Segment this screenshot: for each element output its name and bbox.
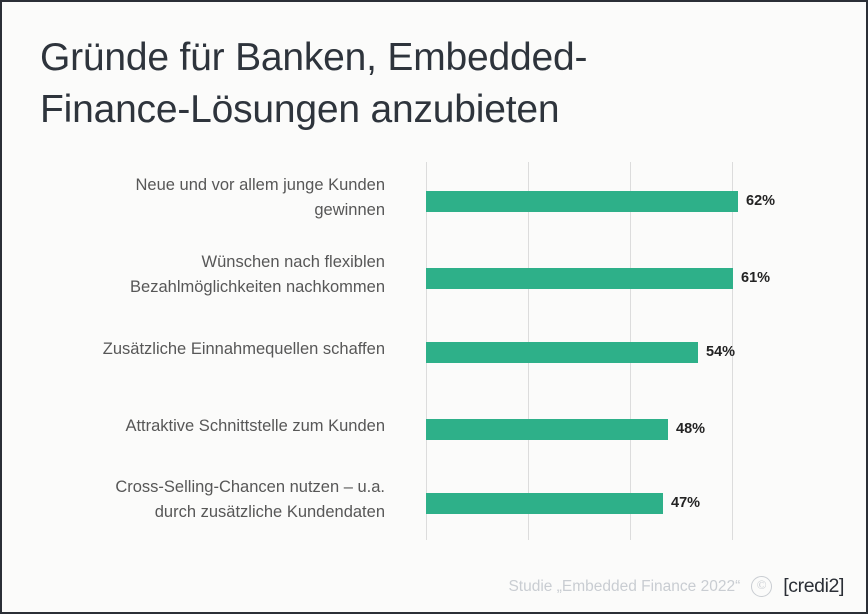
page-title: Gründe für Banken, Embedded- Finance-Lös…	[40, 32, 740, 136]
bar-row: Zusätzliche Einnahmequellen schaffen 54%	[2, 316, 868, 388]
bar[interactable]	[426, 419, 668, 440]
bar-row: Neue und vor allem junge Kunden gewinnen…	[2, 165, 868, 237]
copyright-icon: ©	[751, 576, 772, 597]
bar-row: Cross-Selling-Chancen nutzen – u.a. durc…	[2, 467, 868, 539]
bar-value-label: 47%	[671, 495, 700, 511]
bar-row: Wünschen nach flexiblen Bezahlmöglichkei…	[2, 242, 868, 314]
category-label: Cross-Selling-Chancen nutzen – u.a. durc…	[2, 475, 385, 525]
bar[interactable]	[426, 268, 733, 289]
bar-value-label: 54%	[706, 344, 735, 360]
category-label: Attraktive Schnittstelle zum Kunden	[2, 414, 385, 439]
category-label: Neue und vor allem junge Kunden gewinnen	[2, 173, 385, 223]
bar-value-label: 62%	[746, 193, 775, 209]
category-label: Zusätzliche Einnahmequellen schaffen	[2, 337, 385, 362]
category-label: Wünschen nach flexiblen Bezahlmöglichkei…	[2, 250, 385, 300]
chart-slide: Gründe für Banken, Embedded- Finance-Lös…	[0, 0, 868, 614]
bar[interactable]	[426, 493, 663, 514]
bar[interactable]	[426, 342, 698, 363]
brand-logo: [credi2]	[783, 575, 844, 598]
source-caption: Studie „Embedded Finance 2022“	[508, 578, 740, 596]
footer: Studie „Embedded Finance 2022“ © [credi2…	[508, 575, 844, 598]
bar-value-label: 61%	[741, 270, 770, 286]
bar[interactable]	[426, 191, 738, 212]
bar-value-label: 48%	[676, 421, 705, 437]
bar-row: Attraktive Schnittstelle zum Kunden 48%	[2, 393, 868, 465]
